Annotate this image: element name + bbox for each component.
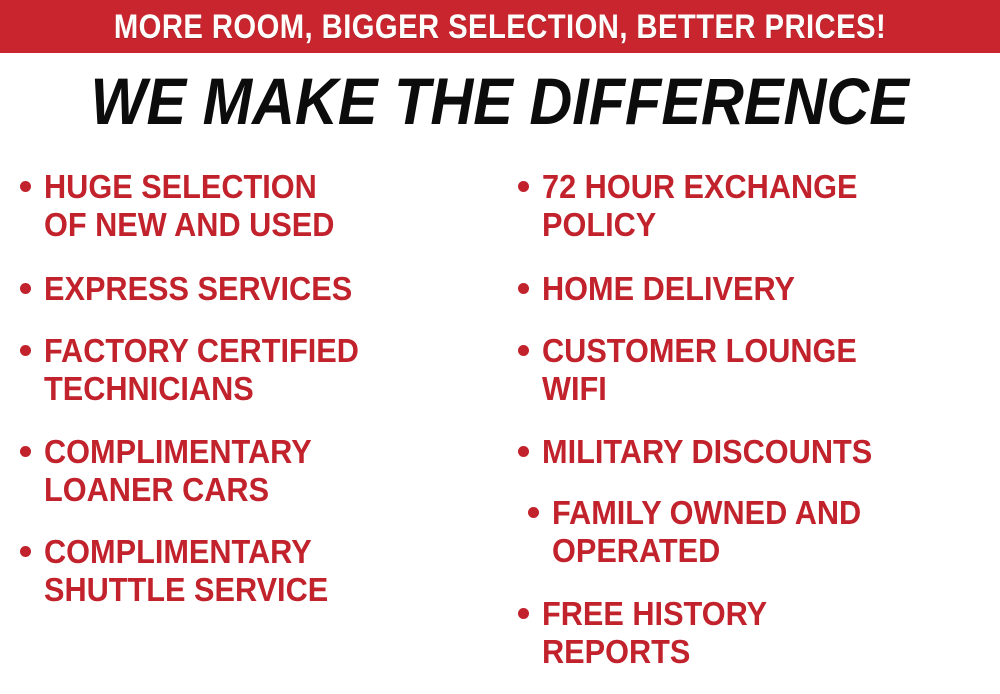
banner-headline-text: MORE ROOM, BIGGER SELECTION, BETTER PRIC… — [114, 10, 886, 44]
list-item: FREE HISTORY REPORTS — [518, 595, 784, 671]
list-item-label: FAMILY OWNED AND OPERATED — [552, 494, 861, 570]
bullet-dot-icon — [518, 608, 529, 619]
bullet-dot-icon — [20, 546, 31, 557]
benefits-columns: HUGE SELECTION OF NEW AND USED EXPRESS S… — [0, 152, 1000, 694]
list-item-label: COMPLIMENTARY LOANER CARS — [44, 433, 312, 509]
list-item-label: 72 HOUR EXCHANGE POLICY — [542, 168, 857, 244]
list-item-label: MILITARY DISCOUNTS — [542, 433, 872, 471]
list-item: CUSTOMER LOUNGE WIFI — [518, 332, 881, 408]
top-banner: MORE ROOM, BIGGER SELECTION, BETTER PRIC… — [0, 0, 1000, 53]
list-item: COMPLIMENTARY SHUTTLE SERVICE — [20, 533, 350, 609]
list-item-label: EXPRESS SERVICES — [44, 270, 352, 308]
bullet-dot-icon — [528, 507, 539, 518]
benefits-column-left: HUGE SELECTION OF NEW AND USED EXPRESS S… — [0, 152, 500, 694]
list-item: COMPLIMENTARY LOANER CARS — [20, 433, 332, 509]
list-item-label: FREE HISTORY REPORTS — [542, 595, 767, 671]
bullet-dot-icon — [518, 446, 529, 457]
page-title: WE MAKE THE DIFFERENCE — [91, 68, 909, 134]
bullet-dot-icon — [518, 345, 529, 356]
bullet-dot-icon — [20, 181, 31, 192]
headline-container: WE MAKE THE DIFFERENCE — [0, 66, 1000, 136]
list-item: MILITARY DISCOUNTS — [518, 433, 897, 471]
list-item: FACTORY CERTIFIED TECHNICIANS — [20, 332, 383, 408]
dealership-promo-poster: MORE ROOM, BIGGER SELECTION, BETTER PRIC… — [0, 0, 1000, 694]
list-item: HUGE SELECTION OF NEW AND USED — [20, 168, 356, 244]
list-item-label: HOME DELIVERY — [542, 270, 795, 308]
list-item-label: CUSTOMER LOUNGE WIFI — [542, 332, 857, 408]
list-item-label: HUGE SELECTION OF NEW AND USED — [44, 168, 334, 244]
bullet-dot-icon — [518, 181, 529, 192]
list-item: 72 HOUR EXCHANGE POLICY — [518, 168, 881, 244]
bullet-dot-icon — [20, 446, 31, 457]
benefits-column-right: 72 HOUR EXCHANGE POLICY HOME DELIVERY CU… — [500, 152, 1000, 694]
list-item: EXPRESS SERVICES — [20, 270, 375, 308]
list-item-label: COMPLIMENTARY SHUTTLE SERVICE — [44, 533, 328, 609]
bullet-dot-icon — [518, 283, 529, 294]
list-item: HOME DELIVERY — [518, 270, 814, 308]
bullet-dot-icon — [20, 283, 31, 294]
list-item-label: FACTORY CERTIFIED TECHNICIANS — [44, 332, 359, 408]
bullet-dot-icon — [20, 345, 31, 356]
list-item: FAMILY OWNED AND OPERATED — [528, 494, 884, 570]
